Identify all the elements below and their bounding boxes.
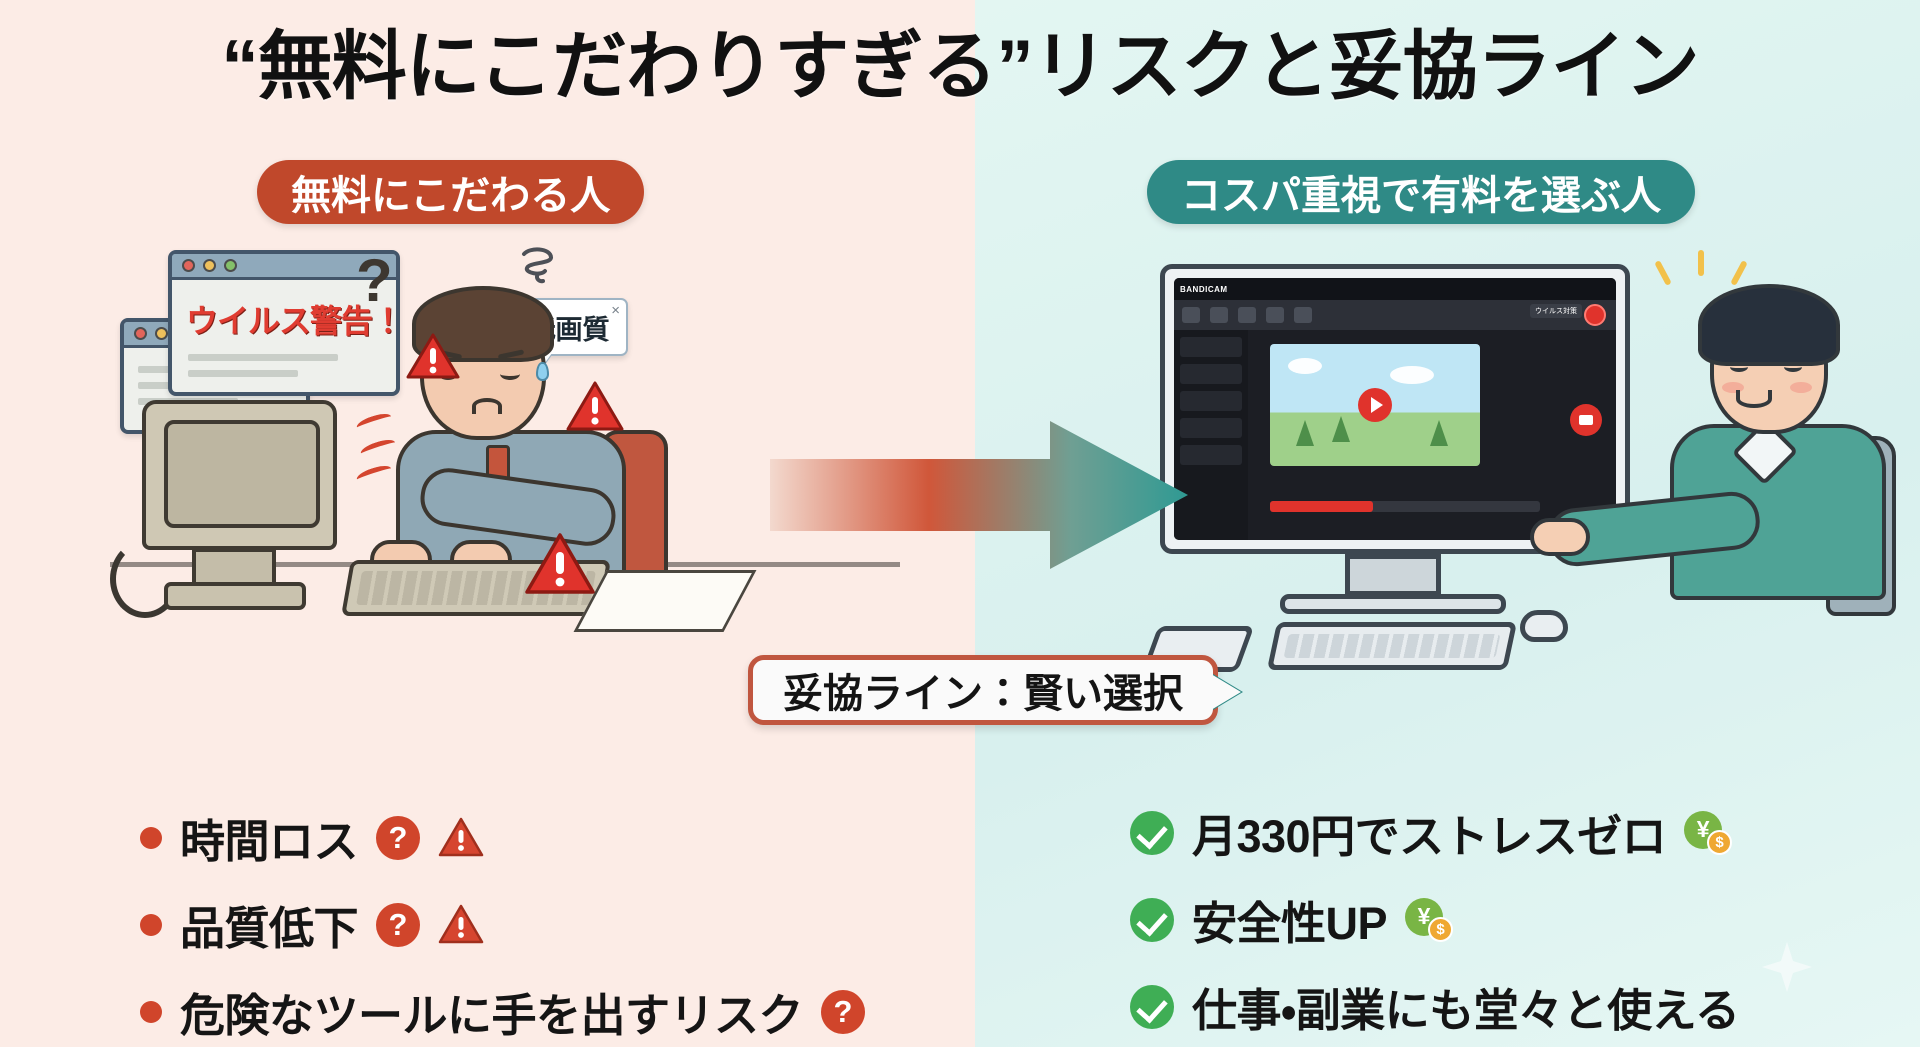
callout-label: 妥協ライン：賢い選択 [783, 661, 1183, 719]
list-item: 仕事・副業にも堂々と使える [1130, 974, 1890, 1039]
question-badge-icon: ? [376, 816, 420, 860]
play-button[interactable] [1358, 388, 1392, 422]
dollar-coin-icon: $ [1707, 830, 1732, 855]
warning-triangle-icon [524, 532, 596, 601]
app-status-label: ウイルス対策 [1530, 304, 1582, 318]
toolbar-icon[interactable] [1266, 307, 1284, 323]
toolbar-icon[interactable] [1182, 307, 1200, 323]
cheek-blush [1790, 382, 1812, 393]
check-circle-icon [1130, 811, 1174, 855]
eye [1730, 362, 1748, 372]
list-item-label: 時間ロス [180, 805, 358, 870]
list-item: 月330円でストレスゼロ ¥ $ [1130, 800, 1890, 865]
check-circle-icon [1130, 985, 1174, 1029]
list-item: 品質低下 ? [140, 892, 900, 957]
close-dot-icon [182, 259, 195, 272]
transition-arrow-icon [770, 415, 1190, 575]
bullet-dot-icon [140, 1001, 162, 1023]
toolbar-icon[interactable] [1210, 307, 1228, 323]
maximize-dot-icon [224, 259, 237, 272]
warning-triangle-icon [566, 380, 624, 437]
list-item: 危険なツールに手を出すリスク ? [140, 979, 900, 1044]
right-bullet-list: 月330円でストレスゼロ ¥ $ 安全性UP ¥ $ 仕事・副業にも堂々と使える [1130, 800, 1890, 1047]
left-bullet-list: 時間ロス ? 品質低下 ? 危険なツールに手を出すリスク ? [140, 805, 900, 1047]
app-logo: BANDICAM [1180, 285, 1228, 294]
sparkle-icon [1698, 250, 1704, 276]
modern-keyboard [1267, 622, 1517, 670]
app-main-area [1248, 330, 1616, 540]
list-item-label: 安全性UP [1192, 887, 1387, 952]
question-badge-icon: ? [376, 903, 420, 947]
toolbar-icon[interactable] [1238, 307, 1256, 323]
monitor-base [1280, 594, 1506, 614]
list-item-label: 仕事・副業にも堂々と使える [1192, 974, 1739, 1039]
warning-triangle-icon [438, 817, 484, 858]
paper-sheet [574, 570, 757, 632]
list-item-label: 危険なツールに手を出すリスク [180, 979, 803, 1044]
sparkle-icon [1730, 260, 1748, 286]
anger-mark-icon [355, 411, 393, 434]
dollar-coin-icon: $ [1428, 917, 1453, 942]
app-titlebar: BANDICAM [1174, 278, 1616, 300]
crt-base [164, 582, 306, 610]
list-item-label: 月330円でストレスゼロ [1192, 800, 1666, 865]
right-illustration: BANDICAM ウイルス対策 [1150, 250, 1880, 670]
eye [500, 368, 520, 380]
list-item: 安全性UP ¥ $ [1130, 887, 1890, 952]
sparkle-icon [1654, 260, 1672, 286]
right-panel-badge: コスパ重視で有料を選ぶ人 [1147, 160, 1695, 224]
crt-monitor [142, 400, 337, 550]
person-hair [1698, 284, 1840, 366]
question-badge-icon: ? [821, 990, 865, 1034]
list-item-label: 品質低下 [180, 892, 358, 957]
warning-triangle-icon [438, 904, 484, 945]
left-illustration: ウイルス警告！ × 低画質 ? [120, 240, 880, 640]
sweat-drop-icon [536, 362, 549, 381]
sidebar-item[interactable] [1180, 337, 1242, 357]
money-coins-icon: ¥ $ [1405, 898, 1453, 942]
infographic-canvas: “無料にこだわりすぎる”リスクと妥協ライン 無料にこだわる人 コスパ重視で有料を… [0, 0, 1920, 1047]
toolbar-icon[interactable] [1294, 307, 1312, 323]
minimize-dot-icon [155, 327, 168, 340]
callout-tail [1211, 674, 1241, 710]
sidebar-item[interactable] [1180, 364, 1242, 384]
check-circle-icon [1130, 898, 1174, 942]
crt-neck [192, 548, 276, 586]
record-button[interactable] [1584, 304, 1606, 326]
eye [1784, 362, 1802, 372]
anger-mark-icon [355, 463, 393, 486]
computer-mouse [1520, 610, 1568, 642]
video-progress-bar[interactable] [1270, 501, 1540, 512]
anger-mark-icon [359, 437, 397, 460]
compromise-line-callout: 妥協ライン：賢い選択 [748, 655, 1218, 725]
list-item: 時間ロス ? [140, 805, 900, 870]
question-mark-icon: ? [356, 246, 393, 315]
bullet-dot-icon [140, 827, 162, 849]
modern-monitor: BANDICAM ウイルス対策 [1160, 264, 1630, 554]
page-title: “無料にこだわりすぎる”リスクと妥協ライン [0, 26, 1920, 107]
video-preview[interactable] [1270, 344, 1480, 466]
mouth-frown [472, 398, 502, 414]
person-hand [1530, 518, 1590, 556]
warning-triangle-icon [406, 332, 460, 385]
left-panel-badge: 無料にこだわる人 [257, 160, 644, 224]
money-coins-icon: ¥ $ [1684, 811, 1732, 855]
bullet-dot-icon [140, 914, 162, 936]
monitor-screen: BANDICAM ウイルス対策 [1174, 278, 1616, 540]
close-dot-icon [134, 327, 147, 340]
sidebar-item[interactable] [1180, 391, 1242, 411]
monitor-stand [1345, 554, 1441, 596]
confusion-swirl-icon [510, 240, 566, 296]
mouth-smile [1736, 390, 1772, 408]
crt-screen [164, 420, 320, 528]
camera-record-button[interactable] [1570, 404, 1602, 436]
minimize-dot-icon [203, 259, 216, 272]
